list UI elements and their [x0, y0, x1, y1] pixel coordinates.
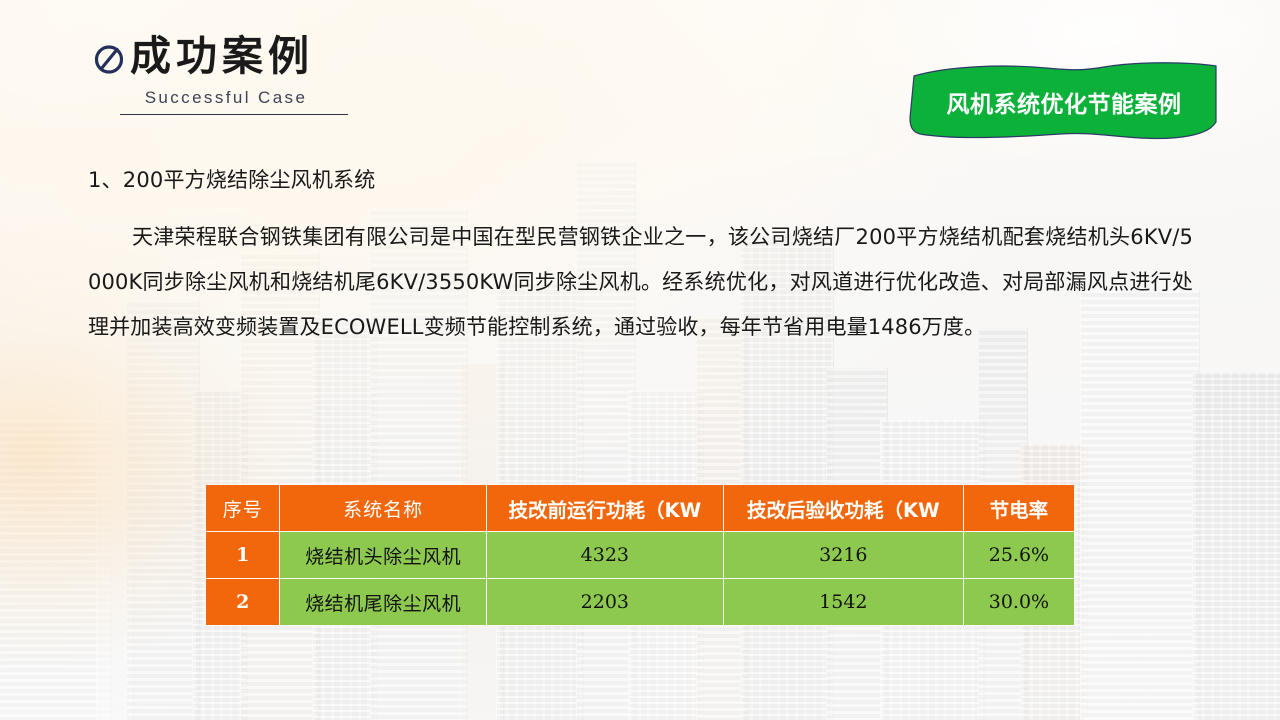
- table-cell-name: 烧结机尾除尘风机: [280, 579, 486, 625]
- slide-header: 成功案例 Successful Case: [92, 36, 348, 115]
- table-header-cell-after: 技改后验收功耗（KW: [724, 485, 963, 531]
- table-header-cell-before: 技改前运行功耗（KW: [487, 485, 723, 531]
- table-cell-index: 2: [206, 579, 279, 625]
- table-cell-name: 烧结机头除尘风机: [280, 532, 486, 578]
- table-cell-saving: 30.0%: [964, 579, 1074, 625]
- table-row: 1 烧结机头除尘风机 4323 3216 25.6%: [206, 532, 1074, 578]
- page-subtitle: Successful Case: [128, 88, 324, 108]
- table-header-row: 序号 系统名称 技改前运行功耗（KW 技改后验收功耗（KW 节电率: [206, 485, 1074, 531]
- table-cell-saving: 25.6%: [964, 532, 1074, 578]
- table-cell-index: 1: [206, 532, 279, 578]
- table-cell-after: 1542: [724, 579, 963, 625]
- title-row: 成功案例: [92, 36, 348, 77]
- section-heading: 1、200平方烧结除尘风机系统: [88, 168, 1193, 193]
- table-row: 2 烧结机尾除尘风机 2203 1542 30.0%: [206, 579, 1074, 625]
- case-table-wrapper: 序号 系统名称 技改前运行功耗（KW 技改后验收功耗（KW 节电率 1 烧结机头…: [205, 484, 1075, 626]
- table-body: 1 烧结机头除尘风机 4323 3216 25.6% 2 烧结机尾除尘风机 22…: [206, 532, 1074, 625]
- table-header-cell-name: 系统名称: [280, 485, 486, 531]
- section-ribbon: 风机系统优化节能案例: [908, 62, 1220, 140]
- slide-canvas: 成功案例 Successful Case 风机系统优化节能案例 1、200平方烧…: [0, 0, 1280, 720]
- title-divider: [120, 114, 348, 115]
- table-header-cell-saving: 节电率: [964, 485, 1074, 531]
- table-cell-after: 3216: [724, 532, 963, 578]
- table-header-cell-index: 序号: [206, 485, 279, 531]
- page-title: 成功案例: [130, 36, 314, 77]
- section-paragraph: 天津荣程联合钢铁集团有限公司是中国在型民营钢铁企业之一，该公司烧结厂200平方烧…: [88, 215, 1193, 350]
- ribbon-label: 风机系统优化节能案例: [908, 62, 1220, 140]
- table-cell-before: 2203: [487, 579, 723, 625]
- case-table: 序号 系统名称 技改前运行功耗（KW 技改后验收功耗（KW 节电率 1 烧结机头…: [205, 484, 1075, 626]
- slashed-circle-icon: [92, 42, 126, 76]
- table-cell-before: 4323: [487, 532, 723, 578]
- body-content: 1、200平方烧结除尘风机系统 天津荣程联合钢铁集团有限公司是中国在型民营钢铁企…: [88, 168, 1193, 350]
- table-header: 序号 系统名称 技改前运行功耗（KW 技改后验收功耗（KW 节电率: [206, 485, 1074, 531]
